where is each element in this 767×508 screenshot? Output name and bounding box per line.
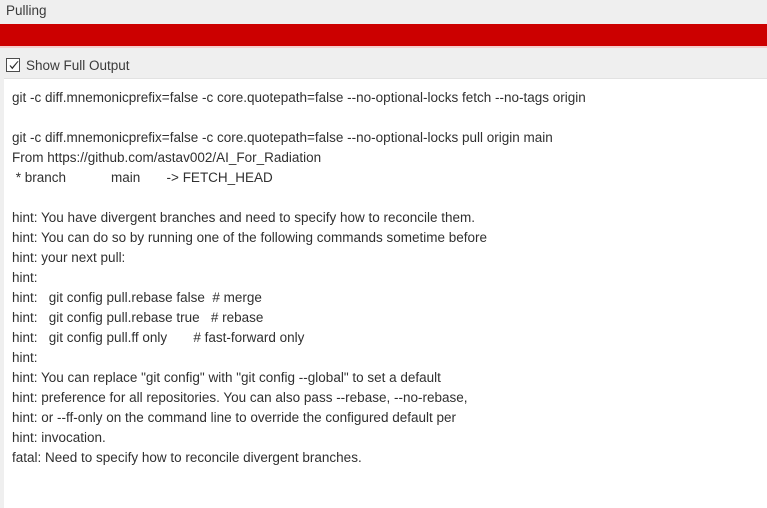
output-line: hint: You can replace "git config" with … — [12, 368, 767, 388]
output-line: hint: — [12, 268, 767, 288]
show-full-output-label: Show Full Output — [26, 57, 130, 74]
output-line: hint: git config pull.rebase true # reba… — [12, 308, 767, 328]
pull-progress-dialog: Pulling Show Full Output git -c diff.mne… — [0, 0, 767, 508]
progress-bar-fill — [0, 24, 767, 46]
output-line: git -c diff.mnemonicprefix=false -c core… — [12, 88, 767, 108]
output-line: * branch main -> FETCH_HEAD — [12, 168, 767, 188]
checkbox-box[interactable] — [6, 58, 20, 72]
output-line: hint: — [12, 348, 767, 368]
output-line: hint: preference for all repositories. Y… — [12, 388, 767, 408]
show-full-output-checkbox[interactable]: Show Full Output — [6, 55, 130, 75]
checkmark-icon — [8, 60, 20, 72]
progress-bar-underline — [0, 46, 767, 48]
pull-progress-bar — [0, 24, 767, 48]
output-line — [12, 188, 767, 208]
output-line: From https://github.com/astav002/AI_For_… — [12, 148, 767, 168]
output-line: fatal: Need to specify how to reconcile … — [12, 448, 767, 468]
output-line: hint: You can do so by running one of th… — [12, 228, 767, 248]
output-line: hint: You have divergent branches and ne… — [12, 208, 767, 228]
output-line: hint: git config pull.ff only # fast-for… — [12, 328, 767, 348]
output-line: hint: your next pull: — [12, 248, 767, 268]
output-line: hint: git config pull.rebase false # mer… — [12, 288, 767, 308]
output-console-panel[interactable]: git -c diff.mnemonicprefix=false -c core… — [4, 78, 767, 508]
status-title: Pulling — [6, 2, 47, 20]
output-line: hint: invocation. — [12, 428, 767, 448]
output-line: hint: or --ff-only on the command line t… — [12, 408, 767, 428]
header-zone: Pulling Show Full Output — [0, 0, 767, 78]
output-line-list: git -c diff.mnemonicprefix=false -c core… — [4, 79, 767, 468]
output-line: git -c diff.mnemonicprefix=false -c core… — [12, 128, 767, 148]
output-line — [12, 108, 767, 128]
